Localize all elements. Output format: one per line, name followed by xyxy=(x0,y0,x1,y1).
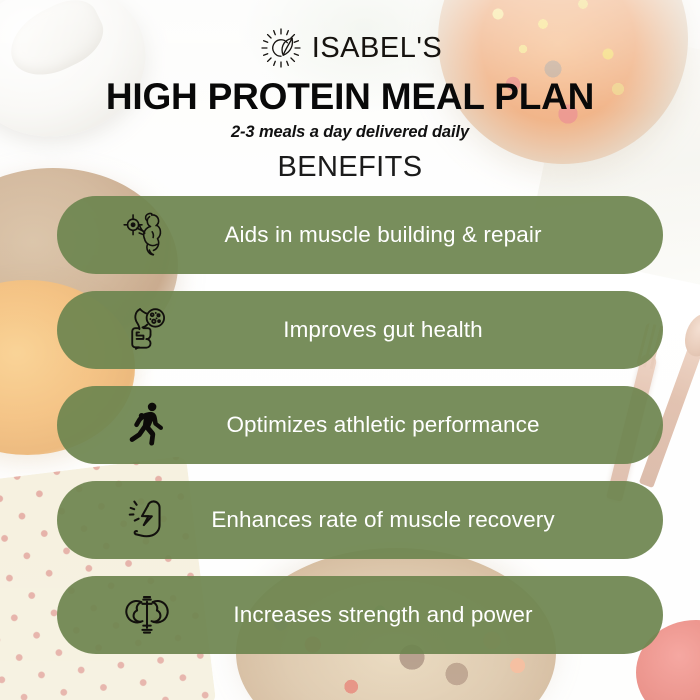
benefit-label: Increases strength and power xyxy=(123,602,643,628)
woman-dumbbell-icon xyxy=(119,207,175,263)
page-title: HIGH PROTEIN MEAL PLAN xyxy=(0,76,700,118)
benefit-item-muscle-recovery[interactable]: Enhances rate of muscle recovery xyxy=(57,481,663,559)
benefits-list: Aids in muscle building & repair xyxy=(0,196,700,654)
section-title-benefits: BENEFITS xyxy=(0,151,700,184)
benefit-item-athletic-performance[interactable]: Optimizes athletic performance xyxy=(57,386,663,464)
stomach-gut-icon xyxy=(119,302,175,358)
meal-plan-poster: ISABEL'S HIGH PROTEIN MEAL PLAN 2-3 meal… xyxy=(0,0,700,700)
benefit-item-strength-power[interactable]: Increases strength and power xyxy=(57,576,663,654)
tagline: 2-3 meals a day delivered daily xyxy=(0,123,700,142)
sun-leaf-logo-icon xyxy=(258,25,304,71)
two-arms-barbell-icon xyxy=(119,587,175,643)
benefit-label: Enhances rate of muscle recovery xyxy=(123,507,643,533)
benefit-label: Optimizes athletic performance xyxy=(123,412,643,438)
benefit-label: Aids in muscle building & repair xyxy=(123,222,643,248)
brand-lockup: ISABEL'S xyxy=(0,0,700,70)
flexed-arm-bolt-icon xyxy=(119,492,175,548)
benefit-item-gut-health[interactable]: Improves gut health xyxy=(57,291,663,369)
brand-name: ISABEL'S xyxy=(312,34,442,63)
benefit-item-muscle-building[interactable]: Aids in muscle building & repair xyxy=(57,196,663,274)
benefit-label: Improves gut health xyxy=(123,317,643,343)
running-person-icon xyxy=(119,397,175,453)
